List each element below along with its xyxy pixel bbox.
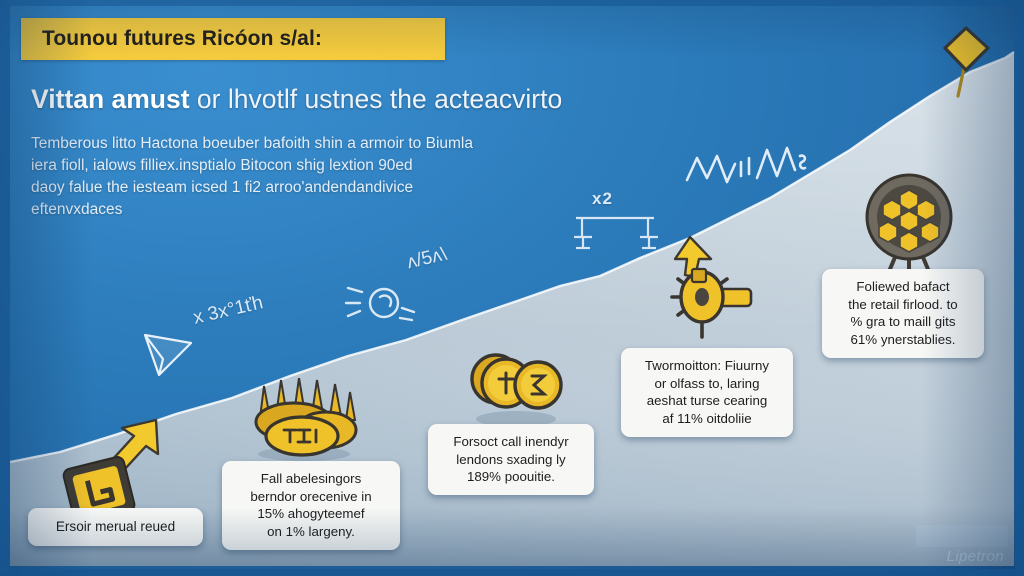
callout-line: lendons sxading ly <box>440 451 582 469</box>
coin-stack-icon <box>466 347 568 429</box>
page-title: Vittan amust or lhvotlf ustnes the actea… <box>31 84 731 115</box>
honeycomb-disc-icon <box>858 170 964 280</box>
watermark-plate <box>916 525 1008 547</box>
headline-emphasis: Vittan amust <box>31 84 190 114</box>
circle-doodle-icon <box>340 270 420 340</box>
callout-line: Foliewed bafact <box>834 278 972 296</box>
callout-line: berndor orecenive in <box>234 488 388 506</box>
crowned-coins-icon <box>246 378 364 462</box>
paper-plane-icon <box>137 323 199 383</box>
headline-rest: or lhvotlf ustnes the acteacvirto <box>190 84 563 114</box>
body-line: Temberous litto Hactona boeuber bafoith … <box>31 133 621 155</box>
callout-lock[interactable]: Ersoir merual reued <box>28 508 203 546</box>
callout-line: or olfass to, laring <box>633 375 781 393</box>
callout-line: 61% ynerstablies. <box>834 331 972 349</box>
banner-label: Tounou futures Ricóon s/al: <box>42 27 322 51</box>
callout-line: 189% poouitie. <box>440 468 582 486</box>
callout-line: Twormoitton: Fiuurny <box>633 357 781 375</box>
body-line: eftenvxdaces <box>31 199 621 221</box>
callout-line: Fall abelesingors <box>234 470 388 488</box>
pinwheel-arrow-icon <box>645 225 763 343</box>
body-copy: Temberous litto Hactona boeuber bafoith … <box>31 133 621 221</box>
callout-line: on 1% largeny. <box>234 523 388 541</box>
callout-line: aeshat turse cearing <box>633 392 781 410</box>
body-line: daoy falue the iesteam icsed 1 fi2 arroo… <box>31 177 621 199</box>
diamond-kite-icon <box>934 20 1002 102</box>
body-line: iera fioll, ialows filliex.insptialo Bit… <box>31 155 621 177</box>
zigzag-line-icon <box>683 136 809 192</box>
callout-line: Ersoir merual reued <box>38 518 193 536</box>
callout-pinwheel[interactable]: Twormoitton: Fiuurny or olfass to, larin… <box>621 348 793 437</box>
callout-crown-coins[interactable]: Fall abelesingors berndor orecenive in 1… <box>222 461 400 550</box>
callout-line: af 11% oitdoliie <box>633 410 781 428</box>
callout-coin-stack[interactable]: Forsoct call inendyr lendons sxading ly … <box>428 424 594 495</box>
title-banner: Tounou futures Ricóon s/al: <box>21 18 445 60</box>
infographic-slide: Tounou futures Ricóon s/al: Vittan amust… <box>0 0 1024 576</box>
watermark-label: Lipetron <box>947 548 1004 565</box>
callout-line: Forsoct call inendyr <box>440 433 582 451</box>
callout-line: the retail firlood. to <box>834 296 972 314</box>
callout-honeycomb[interactable]: Foliewed bafact the retail firlood. to %… <box>822 269 984 358</box>
callout-line: 15% ahogyteemef <box>234 505 388 523</box>
callout-line: % gra to maill gits <box>834 313 972 331</box>
